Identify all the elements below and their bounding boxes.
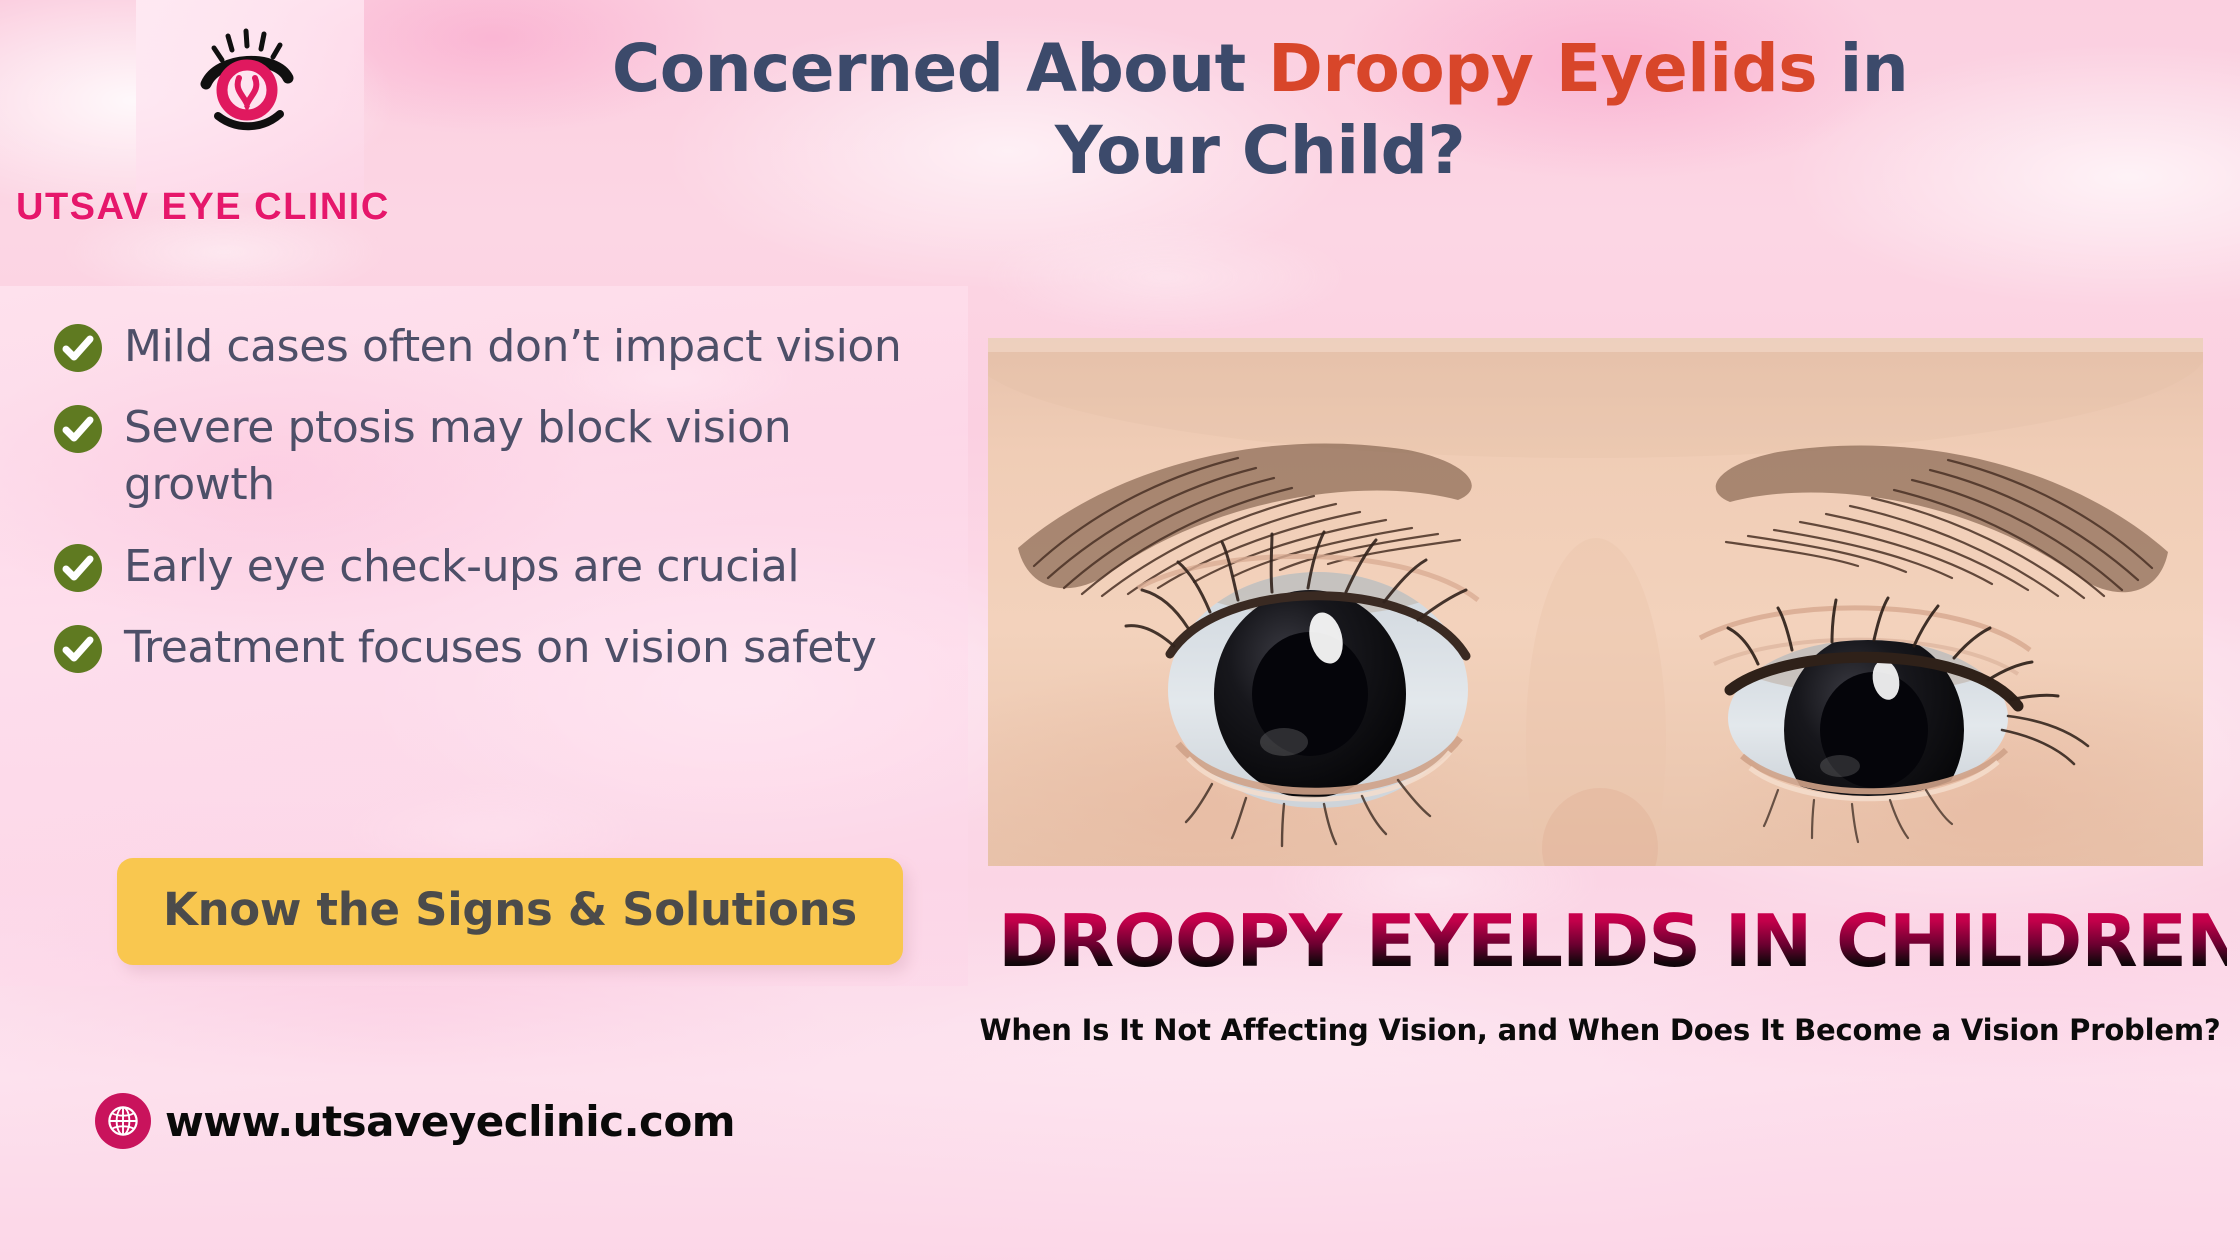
globe-icon [95,1093,151,1149]
cta-button-label: Know the Signs & Solutions [163,883,857,936]
clinic-name: UTSAV EYE CLINIC [16,186,476,229]
website-url[interactable]: www.utsaveyeclinic.com [165,1097,735,1146]
list-item: Mild cases often don’t impact vision [54,318,954,375]
list-item-label: Early eye check-ups are crucial [124,538,799,595]
headline-part-1: Concerned About [612,30,1268,107]
check-circle-icon [54,405,102,453]
page-title: Concerned About Droopy Eyelids in Your C… [560,30,1960,190]
check-circle-icon [54,625,102,673]
headline-line-2: Your Child? [560,112,1960,190]
poster-canvas: UTSAV EYE CLINIC Concerned About Droopy … [0,0,2240,1260]
list-item: Early eye check-ups are crucial [54,538,954,595]
check-circle-icon [54,324,102,372]
list-item-label: Mild cases often don’t impact vision [124,318,901,375]
list-item: Severe ptosis may block vision growth [54,399,954,513]
benefits-list: Mild cases often don’t impact vision Sev… [54,318,954,700]
eye-with-lashes-icon [192,20,304,132]
list-item-label: Severe ptosis may block vision growth [124,399,914,513]
sub-title: When Is It Not Affecting Vision, and Whe… [970,1013,2230,1047]
cta-button[interactable]: Know the Signs & Solutions [117,858,903,965]
list-item: Treatment focuses on vision safety [54,619,954,676]
check-circle-icon [54,544,102,592]
headline-part-3: in [1817,30,1908,107]
main-title: DROOPY EYELIDS IN CHILDREN [998,905,2227,977]
list-item-label: Treatment focuses on vision safety [124,619,876,676]
website-footer[interactable]: www.utsaveyeclinic.com [95,1093,735,1149]
headline-part-2: Droopy Eyelids [1268,30,1817,107]
child-eyes-photo [988,338,2203,866]
